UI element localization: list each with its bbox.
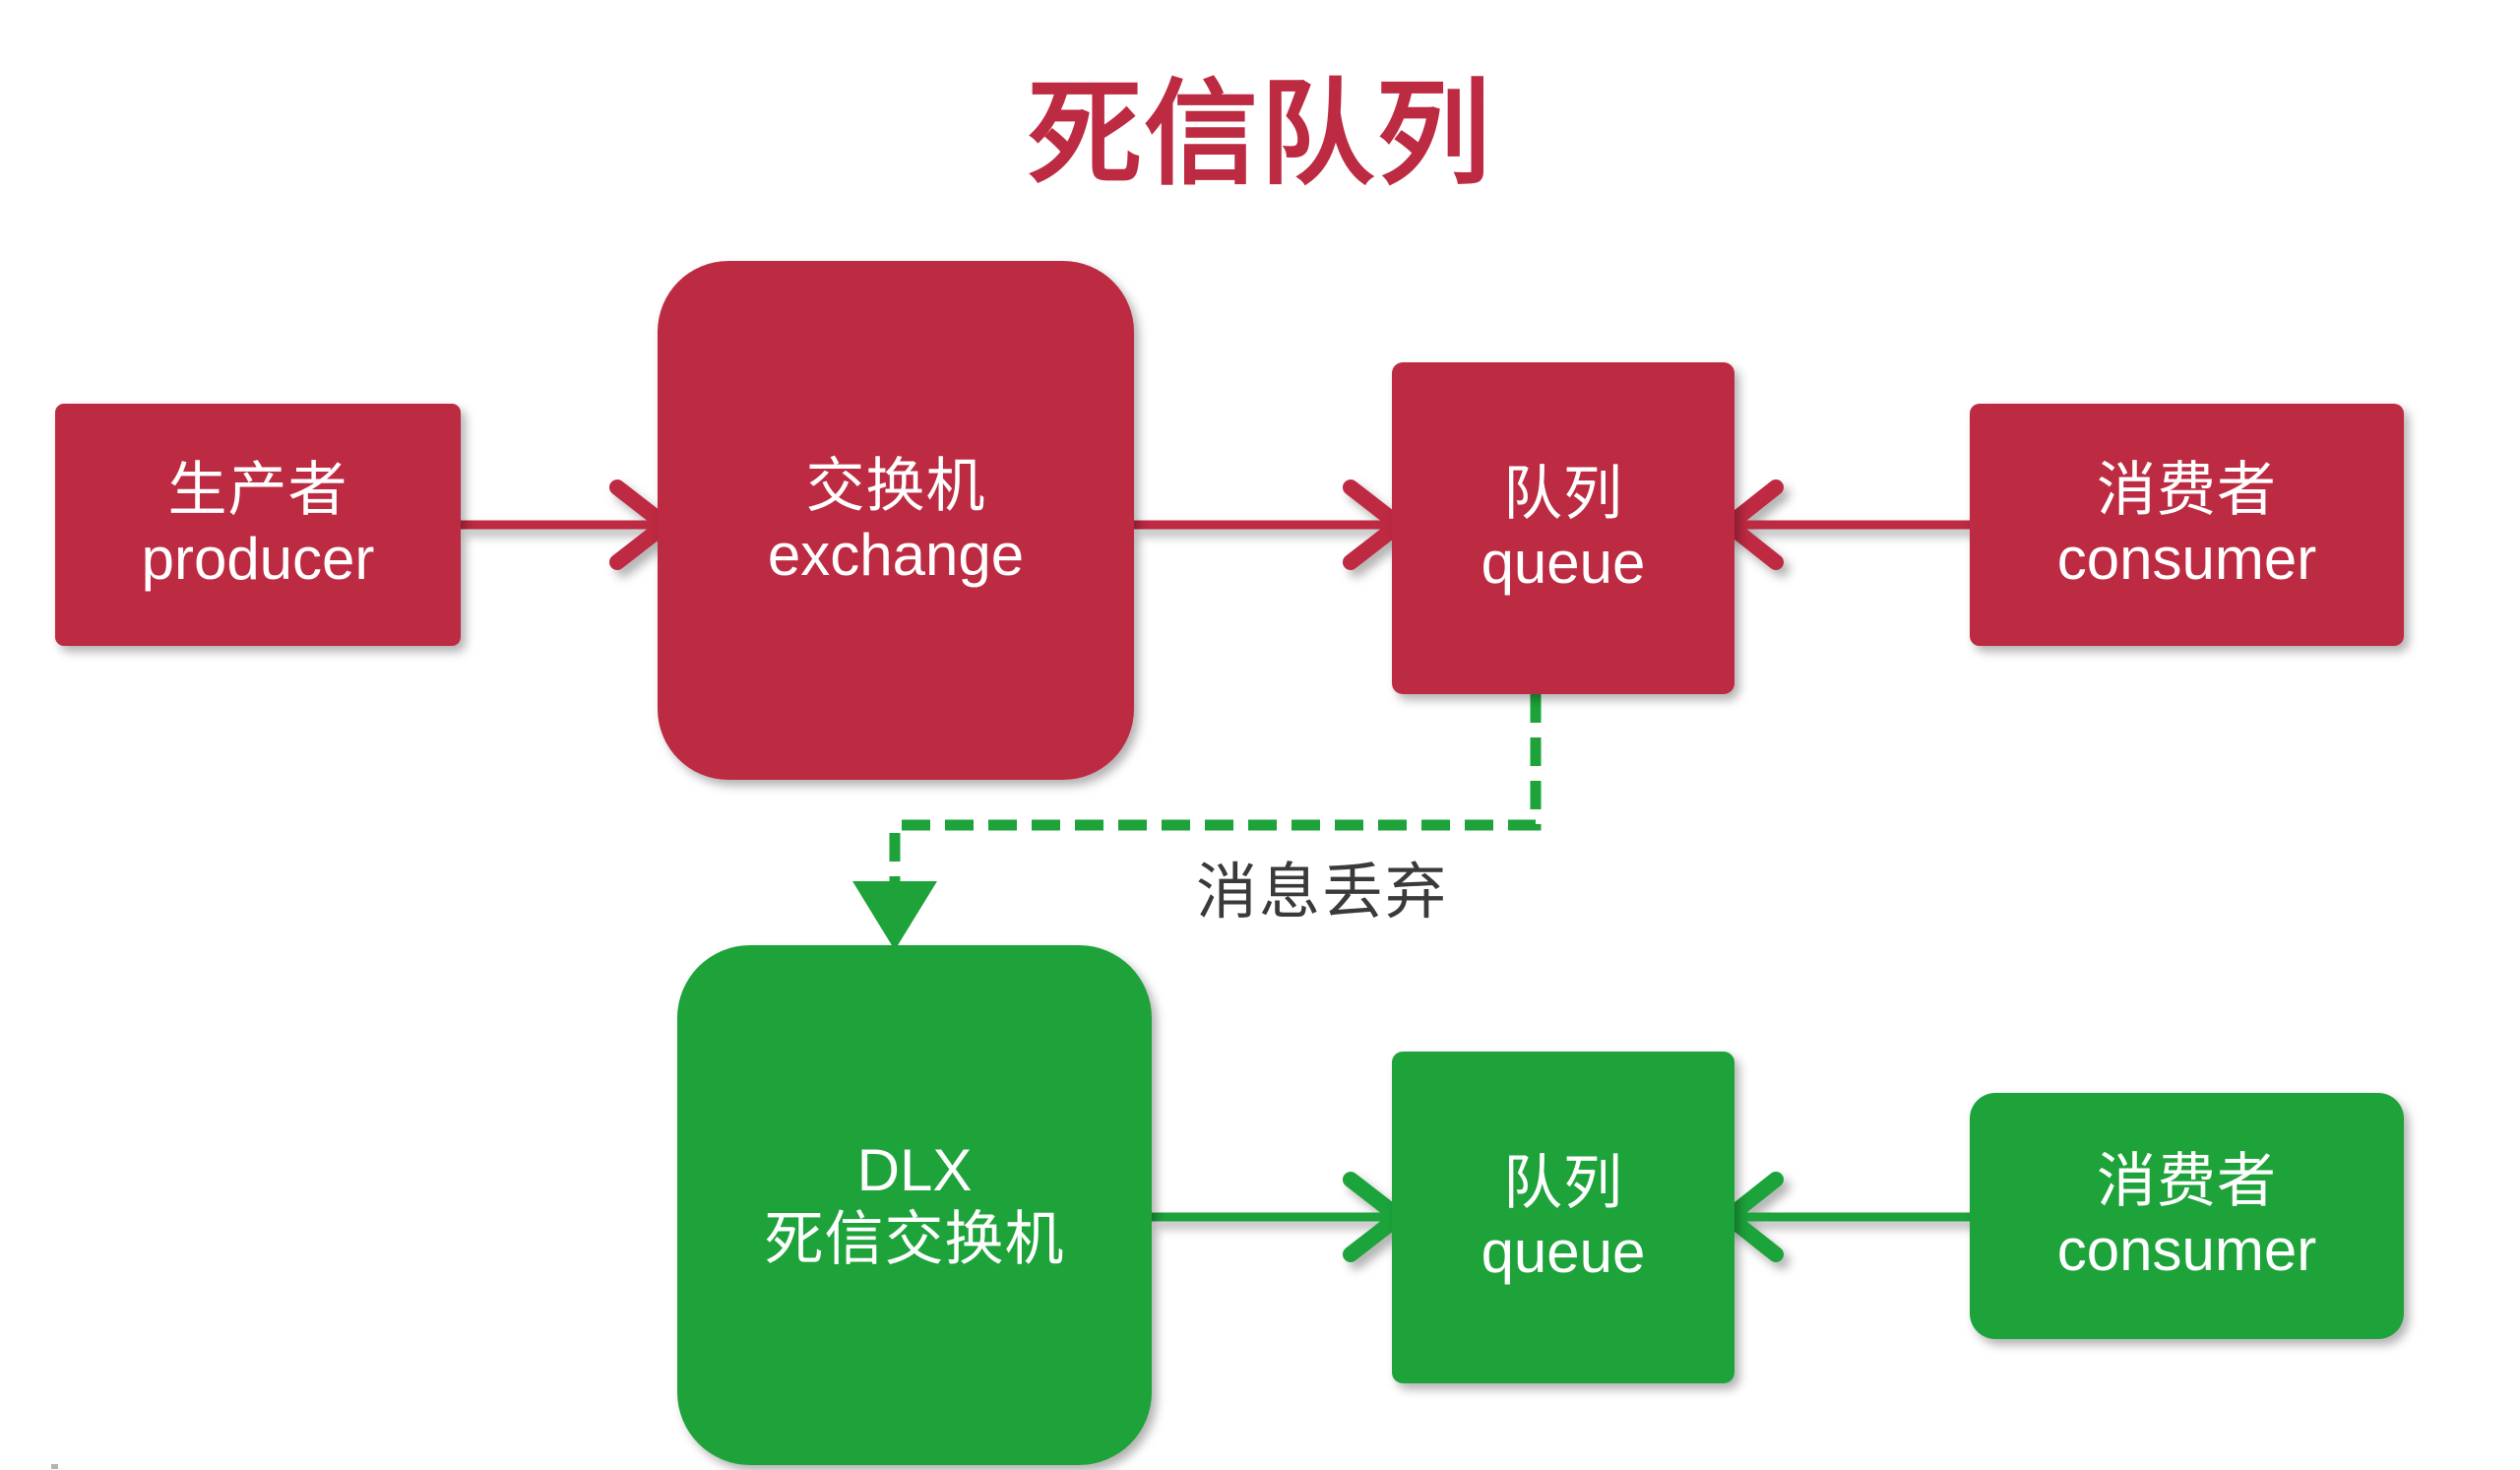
node-consumer-main-label-cn: 消费者 [2097, 456, 2277, 525]
node-consumer-dlx-label-en: consumer [2057, 1216, 2316, 1285]
node-consumer-dlx-label-cn: 消费者 [2097, 1147, 2277, 1216]
node-producer-label-cn: 生产者 [168, 456, 348, 525]
node-queue-main-label-en: queue [1481, 529, 1646, 598]
edge-consumer-to-queue [1729, 487, 1970, 562]
node-dlx[interactable]: DLX 死信交换机 [677, 945, 1152, 1465]
node-consumer-dlx[interactable]: 消费者 consumer [1970, 1093, 2404, 1339]
node-queue-main[interactable]: 队列 queue [1392, 362, 1734, 694]
node-consumer-main-label-en: consumer [2057, 525, 2316, 594]
edge-dlx-to-queue-dlx [1152, 1180, 1399, 1254]
node-queue-dlx-label-en: queue [1481, 1218, 1646, 1287]
node-consumer-main[interactable]: 消费者 consumer [1970, 404, 2404, 646]
node-dlx-label-cn: 死信交换机 [765, 1205, 1065, 1274]
node-exchange-label-en: exchange [768, 521, 1024, 590]
edge-consumer-dlx-to-queue-dlx [1729, 1180, 1970, 1254]
node-queue-dlx-label-cn: 队列 [1503, 1149, 1623, 1218]
node-producer-label-en: producer [142, 525, 375, 594]
node-queue-dlx[interactable]: 队列 queue [1392, 1052, 1734, 1383]
edge-exchange-to-queue [1134, 487, 1399, 562]
node-producer[interactable]: 生产者 producer [55, 404, 461, 646]
edge-label-discard: 消息丢弃 [1196, 842, 1448, 930]
diagram-canvas: 死信队列 [0, 0, 2520, 1470]
corner-artifact [51, 1464, 58, 1469]
node-exchange[interactable]: 交换机 exchange [658, 261, 1134, 780]
edge-producer-to-exchange [461, 487, 665, 562]
node-exchange-label-cn: 交换机 [806, 452, 986, 521]
node-queue-main-label-cn: 队列 [1503, 460, 1623, 529]
node-dlx-label-en: DLX [857, 1136, 973, 1205]
